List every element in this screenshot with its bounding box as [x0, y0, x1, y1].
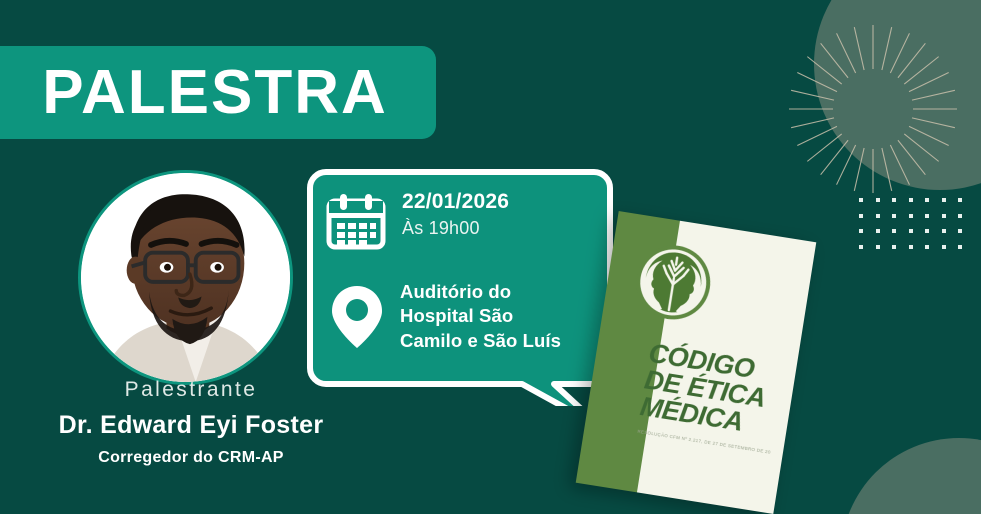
- grid-dot: [876, 245, 880, 249]
- grid-dot: [909, 198, 913, 202]
- event-venue-line-1: Hospital São: [400, 304, 561, 328]
- grid-dot: [925, 198, 929, 202]
- dot-grid-decoration: [859, 198, 975, 260]
- grid-dot: [876, 198, 880, 202]
- grid-dot: [925, 214, 929, 218]
- speaker-subtitle: Corregedor do CRM-AP: [0, 449, 382, 467]
- event-venue: Auditório doHospital SãoCamilo e São Luí…: [400, 280, 561, 353]
- event-poster: PALESTRA: [0, 0, 981, 514]
- grid-dot: [942, 198, 946, 202]
- grid-dot: [859, 229, 863, 233]
- event-date: 22/01/2026: [402, 190, 509, 213]
- grid-dot: [909, 214, 913, 218]
- grid-dot: [958, 214, 962, 218]
- event-venue-row: Auditório doHospital SãoCamilo e São Luí…: [326, 280, 594, 353]
- grid-dot: [909, 229, 913, 233]
- grid-dot: [958, 198, 962, 202]
- sunburst-decoration-icon: [788, 24, 958, 194]
- grid-dot: [942, 245, 946, 249]
- grid-dot: [925, 229, 929, 233]
- decorative-circle-bottom-right: [841, 438, 981, 514]
- grid-dot: [876, 229, 880, 233]
- map-pin-icon: [330, 285, 384, 349]
- grid-dot: [942, 229, 946, 233]
- grid-dot: [859, 214, 863, 218]
- calendar-icon: [326, 192, 386, 252]
- speaker-portrait-photo: [81, 173, 290, 382]
- grid-dot: [909, 245, 913, 249]
- grid-dot: [958, 245, 962, 249]
- grid-dot: [892, 229, 896, 233]
- grid-dot: [958, 229, 962, 233]
- grid-dot: [925, 245, 929, 249]
- palestra-title: PALESTRA: [28, 62, 388, 124]
- event-date-text-block: 22/01/2026 Às 19h00: [402, 190, 509, 239]
- decorative-circle-top-right: [814, 0, 981, 190]
- event-venue-line-2: Camilo e São Luís: [400, 329, 561, 353]
- palestra-banner: PALESTRA: [0, 46, 436, 139]
- grid-dot: [876, 214, 880, 218]
- speaker-name: Dr. Edward Eyi Foster: [0, 411, 382, 440]
- book-title: CÓDIGODE ÉTICAMÉDICA: [638, 340, 789, 442]
- cfm-tree-faces-logo-icon: [630, 239, 717, 326]
- grid-dot: [942, 214, 946, 218]
- event-date-row: 22/01/2026 Às 19h00: [326, 190, 594, 252]
- grid-dot: [892, 245, 896, 249]
- grid-dot: [859, 198, 863, 202]
- event-info-card: 22/01/2026 Às 19h00 Auditório doHospital…: [304, 166, 616, 406]
- grid-dot: [892, 214, 896, 218]
- speaker-portrait-illustration: [81, 173, 290, 382]
- event-time: Às 19h00: [402, 218, 509, 239]
- grid-dot: [892, 198, 896, 202]
- grid-dot: [859, 245, 863, 249]
- speaker-photo-ring: [78, 170, 293, 385]
- book-codigo-de-etica-medica: CÓDIGODE ÉTICAMÉDICA RESOLUÇÃO CFM Nº 2.…: [576, 211, 817, 514]
- event-venue-line-0: Auditório do: [400, 280, 561, 304]
